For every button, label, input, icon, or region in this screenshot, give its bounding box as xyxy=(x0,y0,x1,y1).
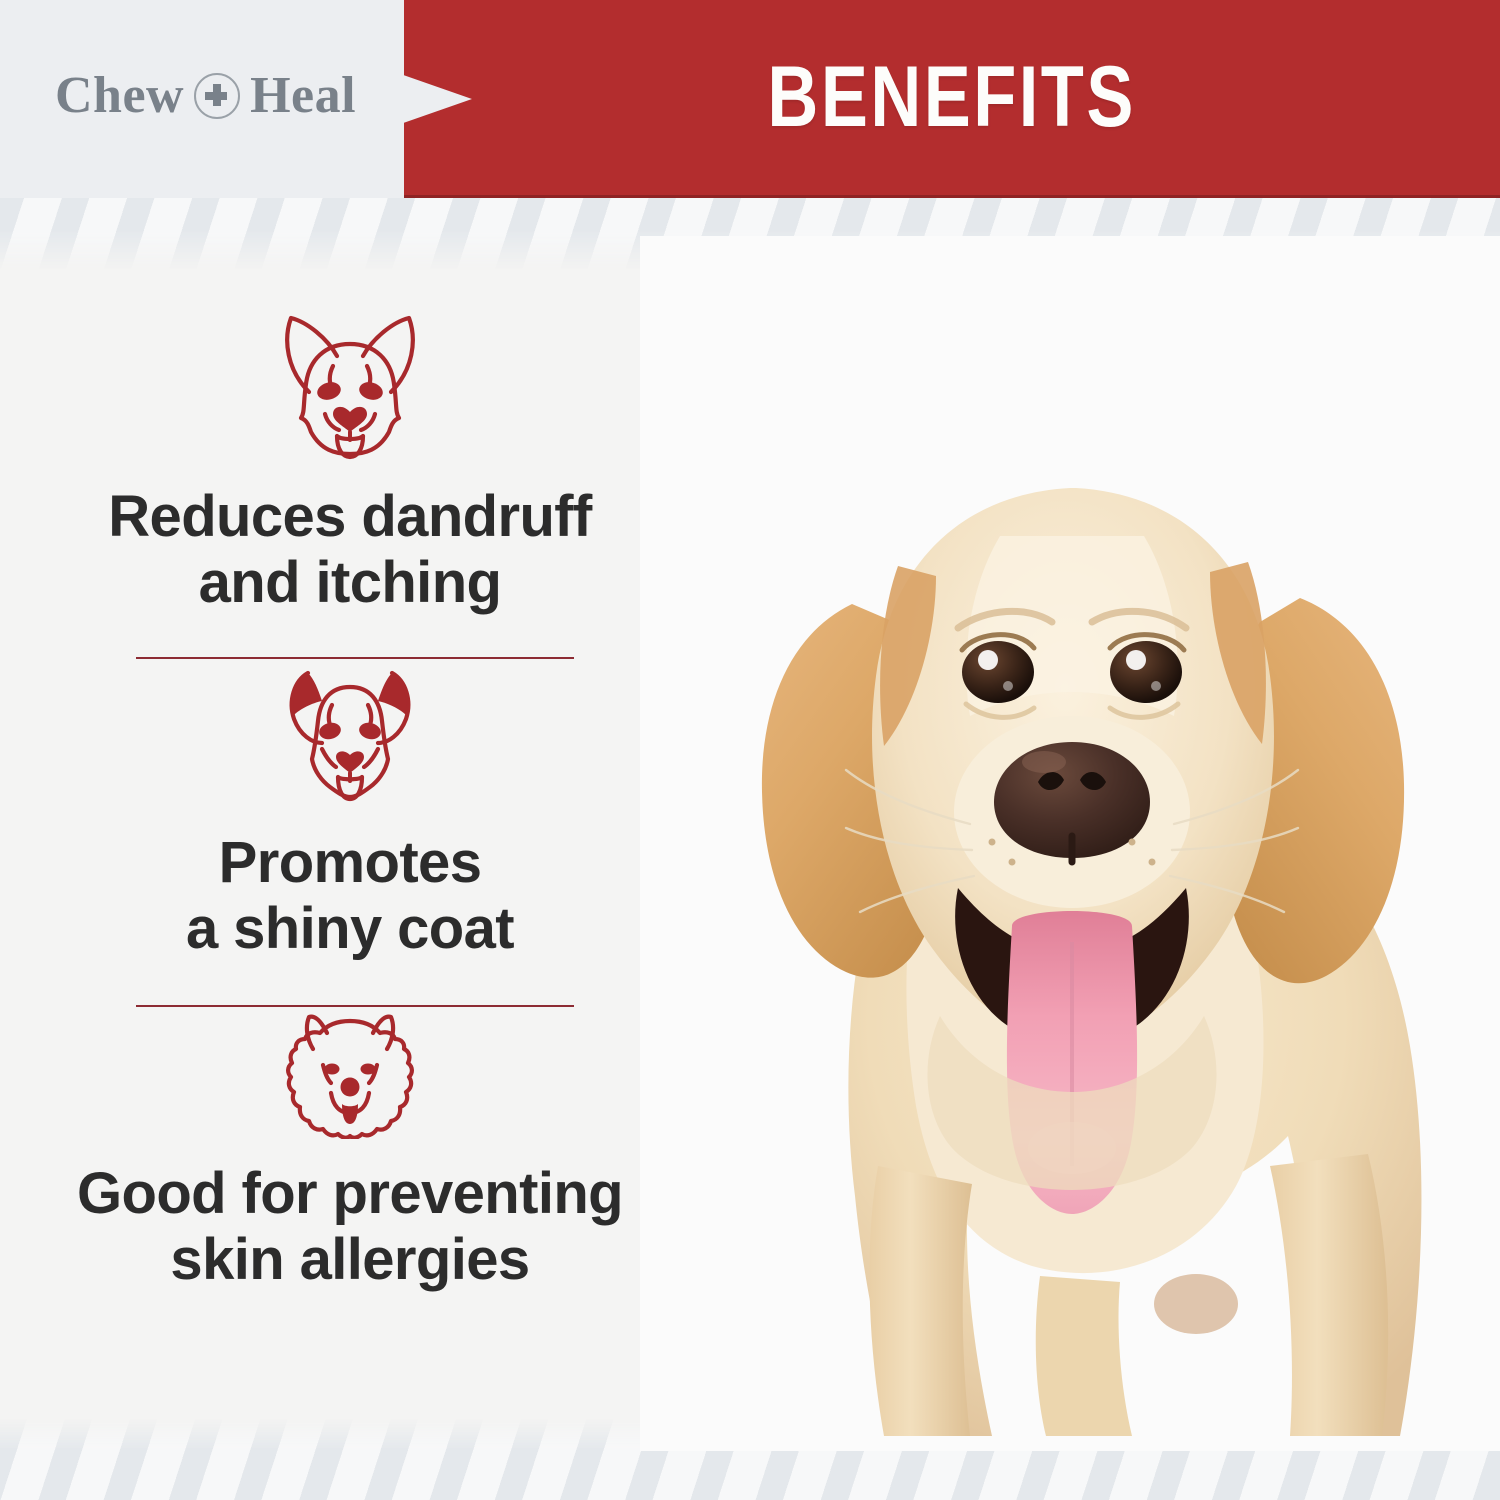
benefit-line-1: Reduces dandruff xyxy=(0,484,700,550)
header-bar: Chew Heal BENEFITS xyxy=(0,0,1500,198)
brand-logo: Chew Heal xyxy=(55,70,356,122)
page-title: BENEFITS xyxy=(768,48,1136,147)
corgi-dog-face-icon xyxy=(0,300,700,460)
benefit-item: Good for preventing skin allergies xyxy=(0,1007,700,1292)
benefits-list: Reduces dandruff and itching xyxy=(0,300,700,1292)
medical-plus-icon xyxy=(194,73,240,119)
benefit-line-2: skin allergies xyxy=(0,1227,700,1293)
benefit-text: Promotes a shiny coat xyxy=(0,830,700,961)
benefit-line-1: Good for preventing xyxy=(0,1161,700,1227)
benefit-item: Reduces dandruff and itching xyxy=(0,300,700,659)
benefit-line-1: Promotes xyxy=(0,830,700,896)
benefits-banner: BENEFITS xyxy=(404,0,1500,198)
logo-word-heal: Heal xyxy=(250,70,356,122)
puppy-photo xyxy=(640,236,1500,1451)
puppy-illustration xyxy=(640,236,1500,1451)
benefit-item: Promotes a shiny coat xyxy=(0,659,700,1007)
terrier-dog-face-icon xyxy=(0,659,700,804)
benefit-text: Reduces dandruff and itching xyxy=(0,484,700,615)
infographic-canvas: Chew Heal BENEFITS xyxy=(0,0,1500,1500)
fluffy-dog-face-icon xyxy=(0,1007,700,1139)
logo-word-chew: Chew xyxy=(55,70,184,122)
benefit-line-2: and itching xyxy=(0,550,700,616)
benefit-line-2: a shiny coat xyxy=(0,896,700,962)
benefit-text: Good for preventing skin allergies xyxy=(0,1161,700,1292)
